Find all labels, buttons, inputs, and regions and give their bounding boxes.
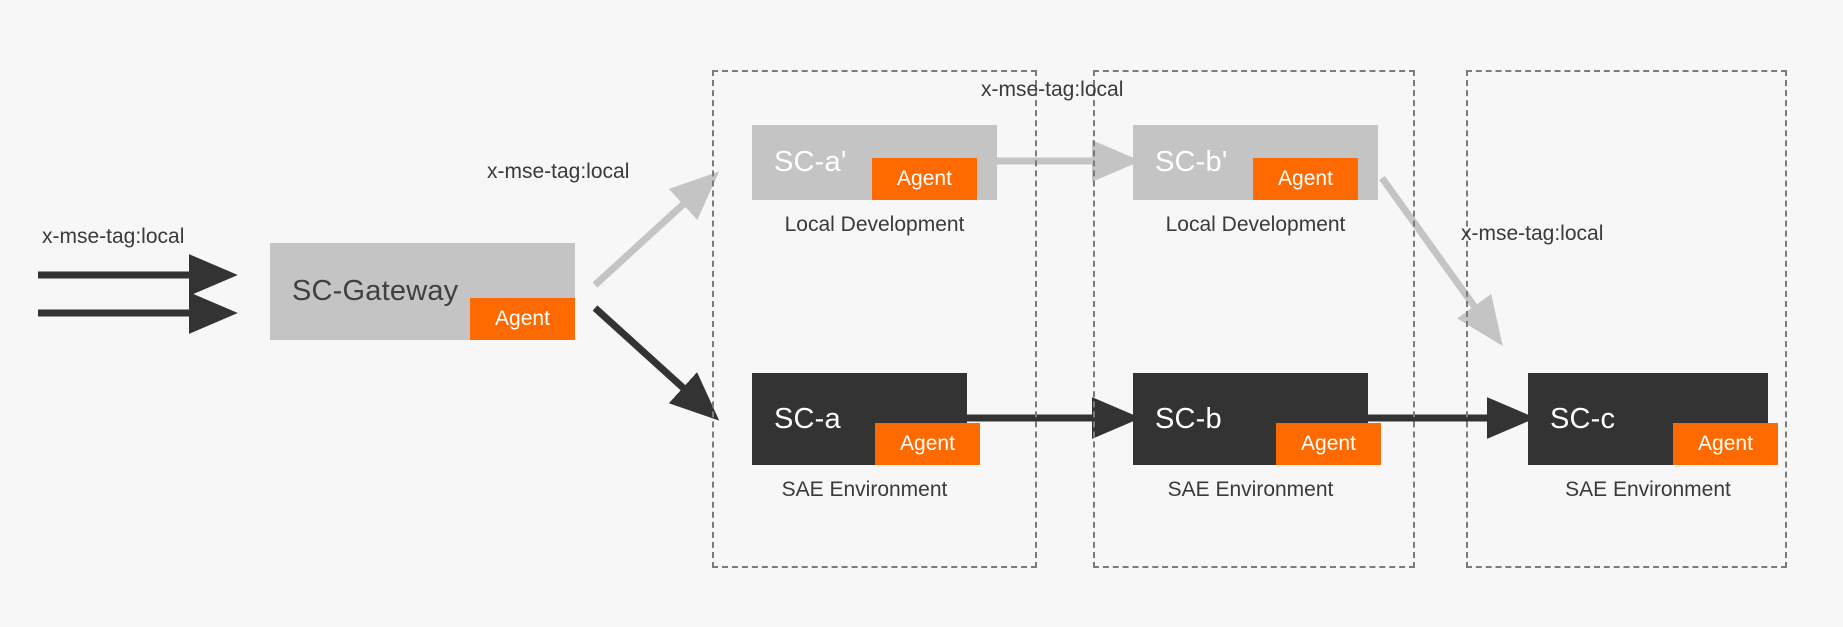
agent-badge[interactable]: Agent [1673, 423, 1778, 465]
service-node-title: SC-c [1550, 403, 1615, 436]
diagram-canvas: SC-GatewayAgentSC-a'AgentLocal Developme… [0, 0, 1843, 627]
service-node-title: SC-b' [1155, 146, 1228, 179]
service-node-sc-b[interactable]: SC-bAgentSAE Environment [1133, 373, 1368, 465]
agent-badge[interactable]: Agent [872, 158, 977, 200]
environment-label: Local Development [1133, 213, 1378, 237]
environment-label: SAE Environment [1508, 478, 1788, 502]
agent-badge[interactable]: Agent [875, 423, 980, 465]
edge-label-label-local-to-sae: x-mse-tag:local [1461, 222, 1603, 246]
environment-label: SAE Environment [742, 478, 987, 502]
service-node-sc-b-prime[interactable]: SC-b'AgentLocal Development [1133, 125, 1378, 200]
edge-label-label-to-local: x-mse-tag:local [487, 160, 629, 184]
agent-badge[interactable]: Agent [1276, 423, 1381, 465]
edge-gateway-to-sc-a-prime [595, 178, 712, 285]
edge-label-label-ingress: x-mse-tag:local [42, 225, 184, 249]
service-node-sc-a[interactable]: SC-aAgentSAE Environment [752, 373, 967, 465]
agent-badge[interactable]: Agent [470, 298, 575, 340]
service-node-sc-gateway[interactable]: SC-GatewayAgent [270, 243, 575, 340]
service-node-title: SC-a [774, 403, 841, 436]
service-node-title: SC-b [1155, 403, 1222, 436]
service-node-title: SC-a' [774, 146, 847, 179]
edge-label-label-local-to-local: x-mse-tag:local [981, 78, 1123, 102]
service-node-title: SC-Gateway [292, 275, 458, 308]
edge-gateway-to-sc-a [595, 308, 712, 414]
service-node-sc-c[interactable]: SC-cAgentSAE Environment [1528, 373, 1768, 465]
environment-label: Local Development [752, 213, 997, 237]
service-node-sc-a-prime[interactable]: SC-a'AgentLocal Development [752, 125, 997, 200]
environment-label: SAE Environment [1113, 478, 1388, 502]
agent-badge[interactable]: Agent [1253, 158, 1358, 200]
